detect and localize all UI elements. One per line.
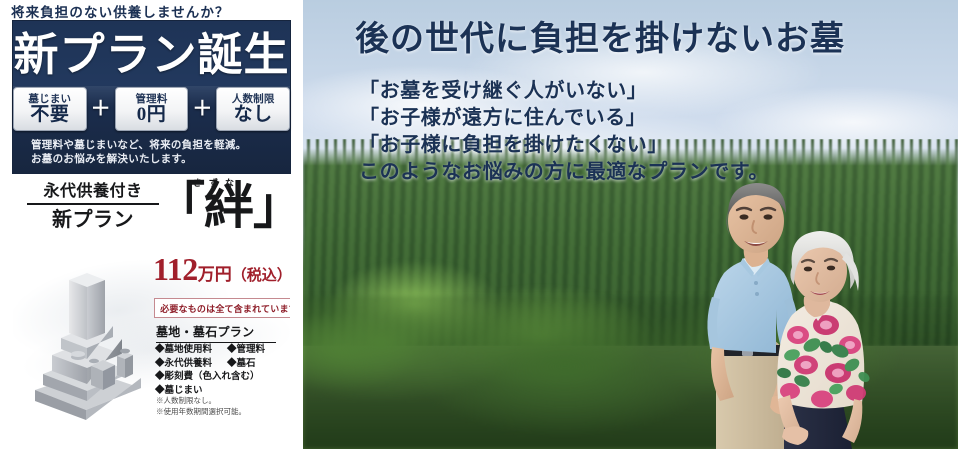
hero-subtext: 管理料や墓じまいなど、将来の負担を軽減。 お墓のお悩みを解決いたします。 [31, 139, 278, 167]
feature-item: ◆墓石 [227, 357, 256, 371]
feature-row: ◆墓じまい [155, 384, 290, 398]
feature-row: ◆彫刻費（色入れ含む） [155, 370, 290, 384]
feature-label: 永代供養料 [165, 358, 213, 369]
photo-line-1: 「お墓を受け継ぐ人がいない」 [359, 78, 919, 105]
feature-label: 管理料 [237, 344, 266, 355]
price-block: 112万円（税込） [153, 252, 290, 286]
feature-item: ◆墓地使用料 [155, 343, 227, 357]
bullet-icon: ◆ [227, 344, 237, 355]
features-heading: 墓地・墓石プラン [156, 323, 276, 343]
bullet-icon: ◆ [227, 358, 237, 369]
plus-separator-1: ＋ [90, 99, 112, 119]
left-plan-panel: 将来負担のない供養しませんか？ 新プラン誕生 墓じまい 不要 ＋ 管理料 0円 … [0, 0, 303, 449]
plan-name-kanji: 絆 [204, 178, 253, 234]
feature-row: ◆墓地使用料 ◆管理料 [155, 343, 290, 357]
inclusive-badge-label: 必要なものは全て含まれています [160, 302, 290, 315]
feature-label: 墓じまい [165, 385, 203, 396]
badge-main-label: 0円 [137, 105, 167, 125]
tagline: 将来負担のない供養しませんか？ [11, 1, 291, 21]
plan-name-bracket-close: 」 [253, 178, 290, 234]
photo-line-4: このようなお悩みの方に最適なプランです。 [359, 159, 919, 186]
feature-row: ◆永代供養料 ◆墓石 [155, 357, 290, 371]
advertisement-banner: 将来負担のない供養しませんか？ 新プラン誕生 墓じまい 不要 ＋ 管理料 0円 … [0, 0, 958, 449]
feature-label: 彫刻費（色入れ含む） [165, 371, 260, 382]
badge-top-label: 墓じまい [28, 94, 71, 105]
price-tax-note: （税込） [232, 268, 290, 284]
photo-line-2: 「お子様が遠方に住んでいる」 [359, 105, 919, 132]
feature-badges: 墓じまい 不要 ＋ 管理料 0円 ＋ 人数制限 なし [13, 87, 290, 131]
hero-title: 新プラン誕生 [13, 29, 290, 81]
plan-details-area: 永代供養付き 新プラン きずな 「絆」 [13, 176, 290, 444]
price-unit: 万円 [198, 265, 232, 284]
badge-main-label: 不要 [30, 105, 69, 125]
footnotes: ※人数制限なし。 ※使用年数期間選択可能。 [156, 396, 290, 417]
hero-photo: 後の世代に負担を掛けないお墓 「お墓を受け継ぐ人がいない」 「お子様が遠方に住ん… [303, 0, 958, 449]
bullet-icon: ◆ [155, 358, 165, 369]
feature-item: ◆永代供養料 [155, 357, 227, 371]
feature-label: 墓石 [237, 358, 256, 369]
badge-main-label: なし [234, 105, 273, 125]
woman-figure [776, 231, 871, 449]
features-list: ◆墓地使用料 ◆管理料 ◆永代供養料 ◆墓石 ◆彫刻費（色入れ含む） ◆墓じまい [155, 343, 290, 397]
photo-bullet-lines: 「お墓を受け継ぐ人がいない」 「お子様が遠方に住んでいる」 「お子様に負担を掛け… [359, 78, 919, 186]
footnote-2: ※使用年数期間選択可能。 [156, 407, 290, 418]
hero-subtext-line-1: 管理料や墓じまいなど、将来の負担を軽減。 [31, 139, 278, 153]
photo-line-3: 「お子様に負担を掛けたくない」 [359, 132, 919, 159]
photo-headline: 後の世代に負担を掛けないお墓 [355, 19, 955, 61]
feature-label: 墓地使用料 [165, 344, 213, 355]
badge-kanriryo: 管理料 0円 [115, 87, 189, 131]
hero-navy-box: 新プラン誕生 墓じまい 不要 ＋ 管理料 0円 ＋ 人数制限 なし 管理料や墓 [13, 21, 290, 173]
price-number: 112 [153, 251, 198, 287]
badge-ninzu-seigen: 人数制限 なし [216, 87, 290, 131]
plus-separator-2: ＋ [191, 99, 213, 119]
badge-top-label: 管理料 [135, 94, 167, 105]
plan-name-bracket-open: 「 [155, 178, 204, 234]
feature-item: ◆管理料 [227, 343, 265, 357]
plan-label-line-1: 永代供養付き [27, 182, 159, 205]
badge-bojimai: 墓じまい 不要 [13, 87, 87, 131]
feature-item: ◆墓じまい [155, 384, 203, 398]
bullet-icon: ◆ [155, 385, 165, 396]
gravestone-icon [21, 238, 151, 428]
plan-label-line-2: 新プラン [27, 207, 159, 233]
inclusive-badge: 必要なものは全て含まれています [154, 298, 290, 318]
plan-name: 「絆」 [155, 178, 290, 234]
plan-label: 永代供養付き 新プラン [27, 182, 159, 233]
badge-top-label: 人数制限 [232, 94, 275, 105]
footnote-1: ※人数制限なし。 [156, 396, 290, 407]
bullet-icon: ◆ [155, 371, 165, 382]
elderly-couple-photo [680, 149, 940, 449]
bullet-icon: ◆ [155, 344, 165, 355]
feature-item: ◆彫刻費（色入れ含む） [155, 370, 260, 384]
hero-subtext-line-2: お墓のお悩みを解決いたします。 [31, 153, 278, 167]
